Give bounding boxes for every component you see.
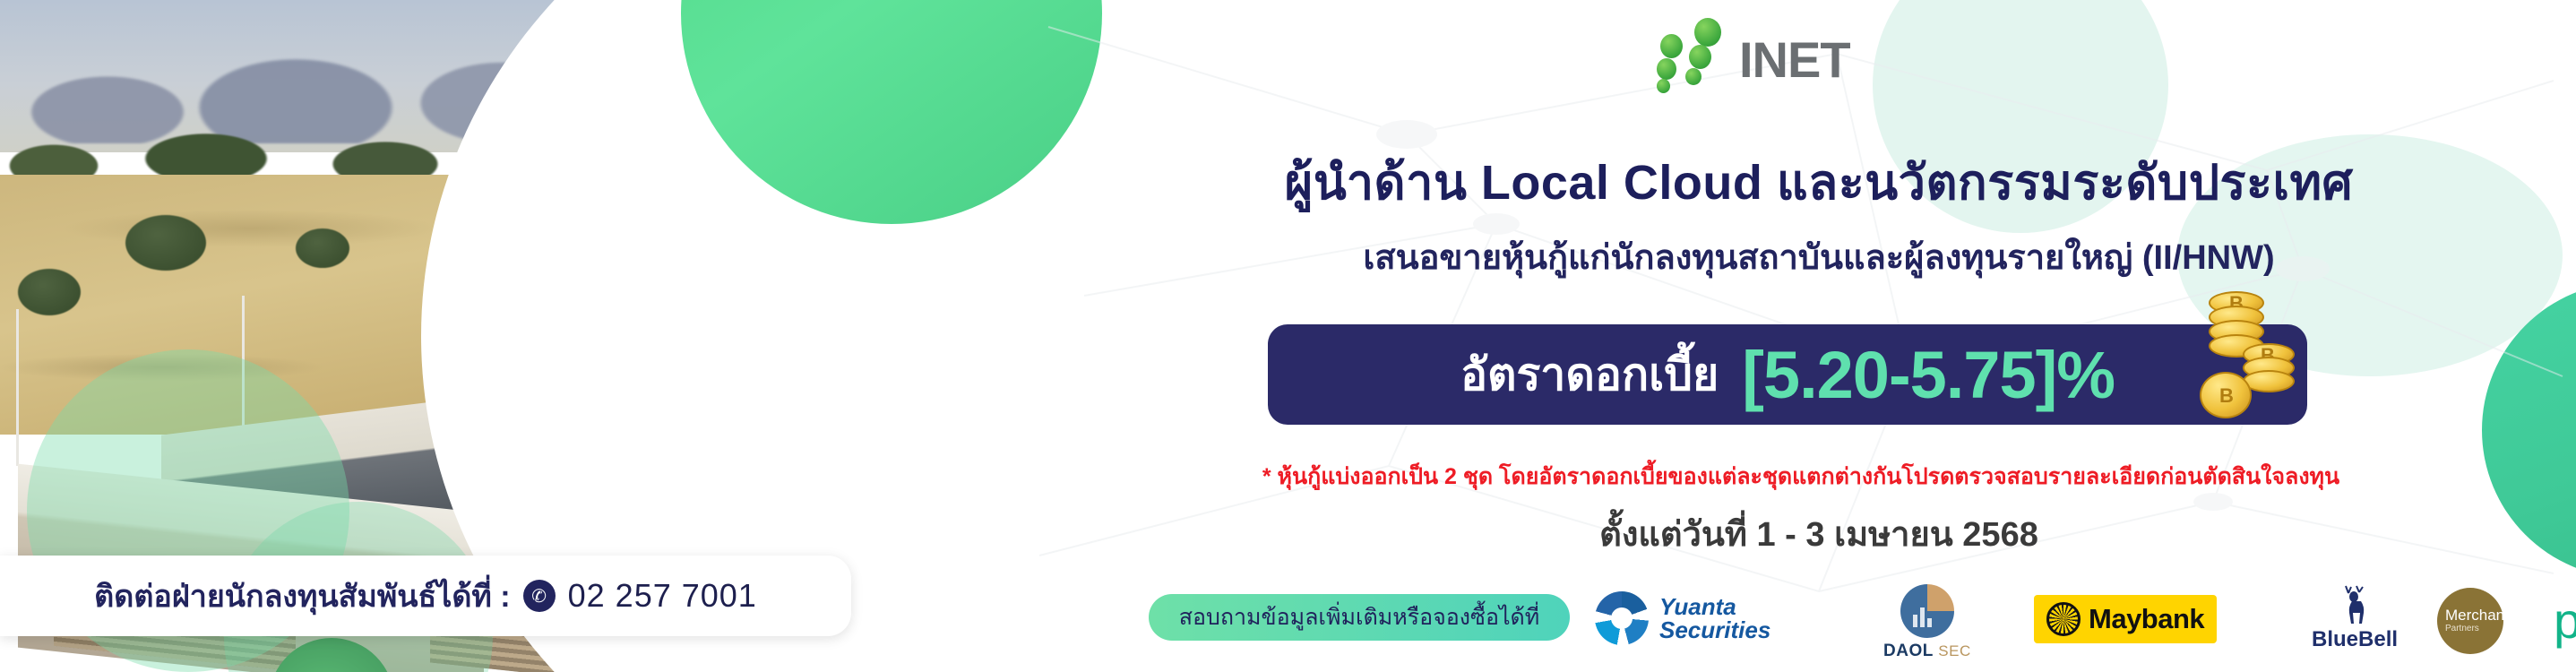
daol-line1: DAOL: [1883, 642, 1933, 660]
daol-wordmark: DAOL SEC: [1883, 642, 1971, 661]
partner-logo-pi[interactable]: pi: [2554, 591, 2576, 650]
merchant-line1: Merchant: [2445, 607, 2509, 623]
bluebell-wordmark: BlueBell: [2312, 627, 2398, 652]
partner-logo-yuanta[interactable]: Yuanta Securities: [1595, 591, 1770, 645]
partner-logo-daolsec[interactable]: DAOL SEC: [1883, 584, 1971, 661]
tree: [125, 215, 206, 271]
page-subtitle: เสนอขายหุ้นกู้แก่นักลงทุนสถาบันและผู้ลงท…: [1192, 229, 2446, 284]
contact-label: ติดต่อฝ่ายนักลงทุนสัมพันธ์ได้ที่ :: [94, 572, 510, 620]
inet-logo-wordmark: INET: [1739, 30, 1850, 89]
contact-phone-number[interactable]: 02 257 7001: [568, 577, 757, 615]
yuanta-wordmark: Yuanta Securities: [1659, 595, 1770, 642]
disclaimer-text: * หุ้นกู้แบ่งออกเป็น 2 ชุด โดยอัตราดอกเบ…: [1102, 459, 2500, 495]
interest-rate-badge: อัตราดอกเบี้ย [5.20-5.75]%: [1268, 324, 2307, 425]
gold-coins-icon: B B B: [2200, 291, 2316, 426]
partner-logo-bluebell[interactable]: BlueBell: [2312, 584, 2398, 652]
page-title: ผู้นำด้าน Local Cloud และนวัตกรรมระดับปร…: [1192, 143, 2446, 220]
merchant-line2: Partners: [2445, 623, 2479, 635]
offer-date-range: ตั้งแต่วันที่ 1 - 3 เมษายน 2568: [1192, 506, 2446, 561]
interest-rate-label: อัตราดอกเบี้ย: [1460, 340, 1719, 410]
maybank-wordmark: Maybank: [2089, 603, 2204, 635]
utility-pole: [16, 309, 19, 466]
yuanta-mark-icon: [1595, 591, 1649, 645]
tree: [18, 269, 81, 315]
partner-logo-maybank[interactable]: Maybank: [2034, 595, 2217, 643]
maybank-tiger-icon: [2046, 602, 2081, 636]
daol-bars-icon: [1913, 607, 1932, 627]
interest-rate-value: [5.20-5.75]%: [1742, 337, 2115, 413]
pi-wordmark: pi: [2554, 591, 2576, 650]
daol-line2: SEC: [1938, 642, 1970, 659]
inet-logo: INET: [1644, 16, 1940, 88]
partner-logos: Yuanta Securities DAOL SEC Maybank: [1595, 581, 2554, 663]
promotional-banner: INET ผู้นำด้าน Local Cloud และนวัตกรรมระ…: [0, 0, 2576, 672]
investor-relations-contact: ติดต่อฝ่ายนักลงทุนสัมพันธ์ได้ที่ : ✆ 02 …: [0, 556, 851, 636]
partner-logo-merchant[interactable]: Merchant Partners: [2437, 588, 2503, 654]
deer-icon: [2336, 584, 2374, 625]
tree: [296, 228, 349, 268]
yuanta-line2: Securities: [1659, 616, 1770, 643]
inet-logo-dots-icon: [1644, 16, 1743, 88]
daol-mark-icon: [1900, 584, 1954, 638]
phone-icon: ✆: [523, 580, 556, 612]
merchant-mark-icon: Merchant Partners: [2437, 588, 2503, 654]
contact-cta-button[interactable]: สอบถามข้อมูลเพิ่มเติมหรือจองซื้อได้ที่: [1149, 594, 1570, 641]
